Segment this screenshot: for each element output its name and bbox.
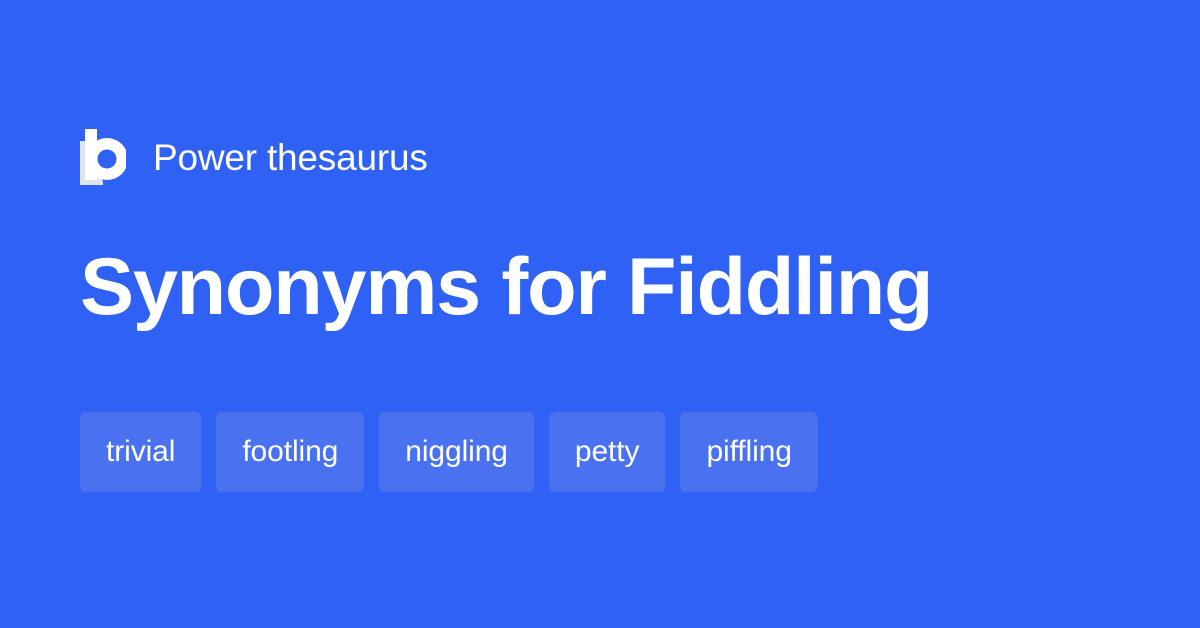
synonym-tag[interactable]: piffling [680, 412, 817, 492]
share-card: Power thesaurus Synonyms for Fiddling tr… [0, 0, 1200, 628]
synonym-tag-list: trivial footling niggling petty piffling [80, 412, 818, 492]
page-title: Synonyms for Fiddling [80, 243, 932, 332]
synonym-tag[interactable]: niggling [379, 412, 534, 492]
synonym-tag[interactable]: petty [549, 412, 666, 492]
synonym-tag[interactable]: trivial [80, 412, 201, 492]
synonym-tag[interactable]: footling [216, 412, 364, 492]
power-thesaurus-b-logo-icon [80, 129, 126, 185]
brand-lockup[interactable]: Power thesaurus [80, 126, 428, 188]
brand-name: Power thesaurus [153, 139, 428, 176]
